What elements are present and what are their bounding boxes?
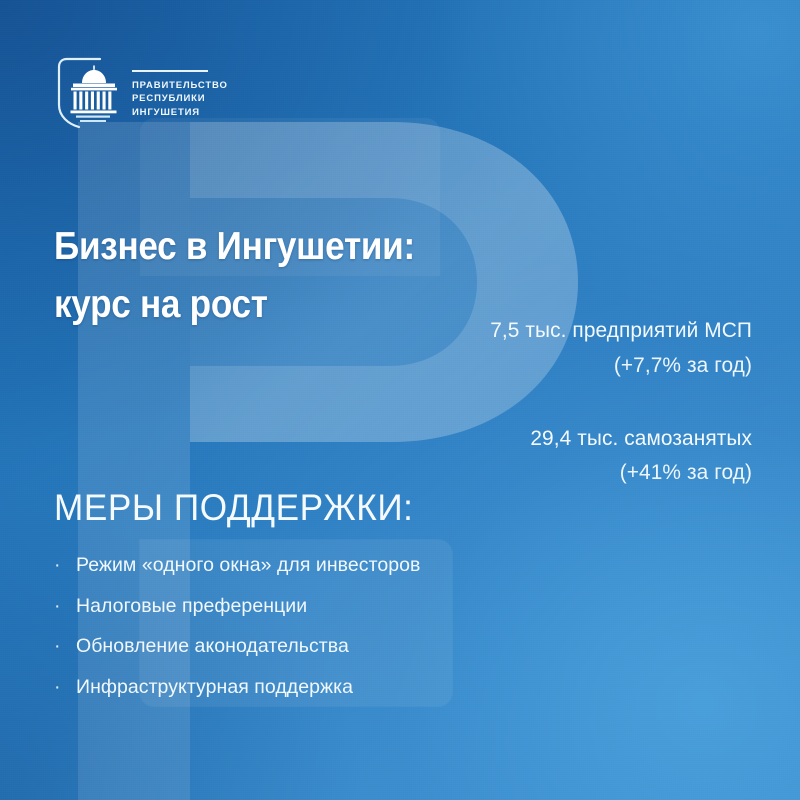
stat-change-selfemployed: (+41% за год) (432, 455, 752, 490)
stat-value-enterprises: 7,5 тыс. предприятий МСП (432, 313, 752, 348)
stat-value-selfemployed: 29,4 тыс. самозанятых (432, 421, 752, 456)
list-item-label: Режим «одного окна» для инвесторов (76, 556, 420, 576)
list-item-label: Обновление аконодательства (76, 637, 349, 657)
government-logo: ПРАВИТЕЛЬСТВО РЕСПУБЛИКИ ИНГУШЕТИЯ (54, 56, 228, 130)
support-measures-heading: МЕРЫ ПОДДЕРЖКИ: (54, 487, 414, 529)
logo-line-2: РЕСПУБЛИКИ (132, 92, 228, 105)
list-item-label: Инфраструктурная поддержка (76, 678, 353, 698)
bullet-dot-icon: · (54, 597, 76, 617)
bullet-dot-icon: · (54, 637, 76, 657)
logo-line-1: ПРАВИТЕЛЬСТВО (132, 79, 228, 92)
government-house-shield-emblem (54, 56, 120, 130)
stat-item-selfemployed: 29,4 тыс. самозанятых (+41% за год) (422, 421, 752, 491)
support-measures-list: · Режим «одного окна» для инвесторов · Н… (54, 556, 420, 697)
list-item: · Режим «одного окна» для инвесторов (54, 556, 420, 576)
logo-line-3: ИНГУШЕТИЯ (132, 106, 228, 119)
logo-wordmark: ПРАВИТЕЛЬСТВО РЕСПУБЛИКИ ИНГУШЕТИЯ (132, 70, 228, 119)
headline-line-1: Бизнес в Ингушетии: (54, 225, 415, 268)
poster-canvas: ПРАВИТЕЛЬСТВО РЕСПУБЛИКИ ИНГУШЕТИЯ Бизне… (0, 0, 800, 800)
list-item: · Налоговые преференции (54, 597, 420, 617)
bullet-dot-icon: · (54, 556, 76, 576)
list-item: · Обновление аконодательства (54, 637, 420, 657)
stat-item-enterprises: 7,5 тыс. предприятий МСП (+7,7% за год) (422, 313, 752, 383)
stat-change-enterprises: (+7,7% за год) (432, 348, 752, 383)
bullet-dot-icon: · (54, 678, 76, 698)
list-item: · Инфраструктурная поддержка (54, 678, 420, 698)
statistics-block: 7,5 тыс. предприятий МСП (+7,7% за год) … (422, 313, 752, 490)
logo-divider-rule (132, 70, 208, 72)
list-item-label: Налоговые преференции (76, 597, 307, 617)
